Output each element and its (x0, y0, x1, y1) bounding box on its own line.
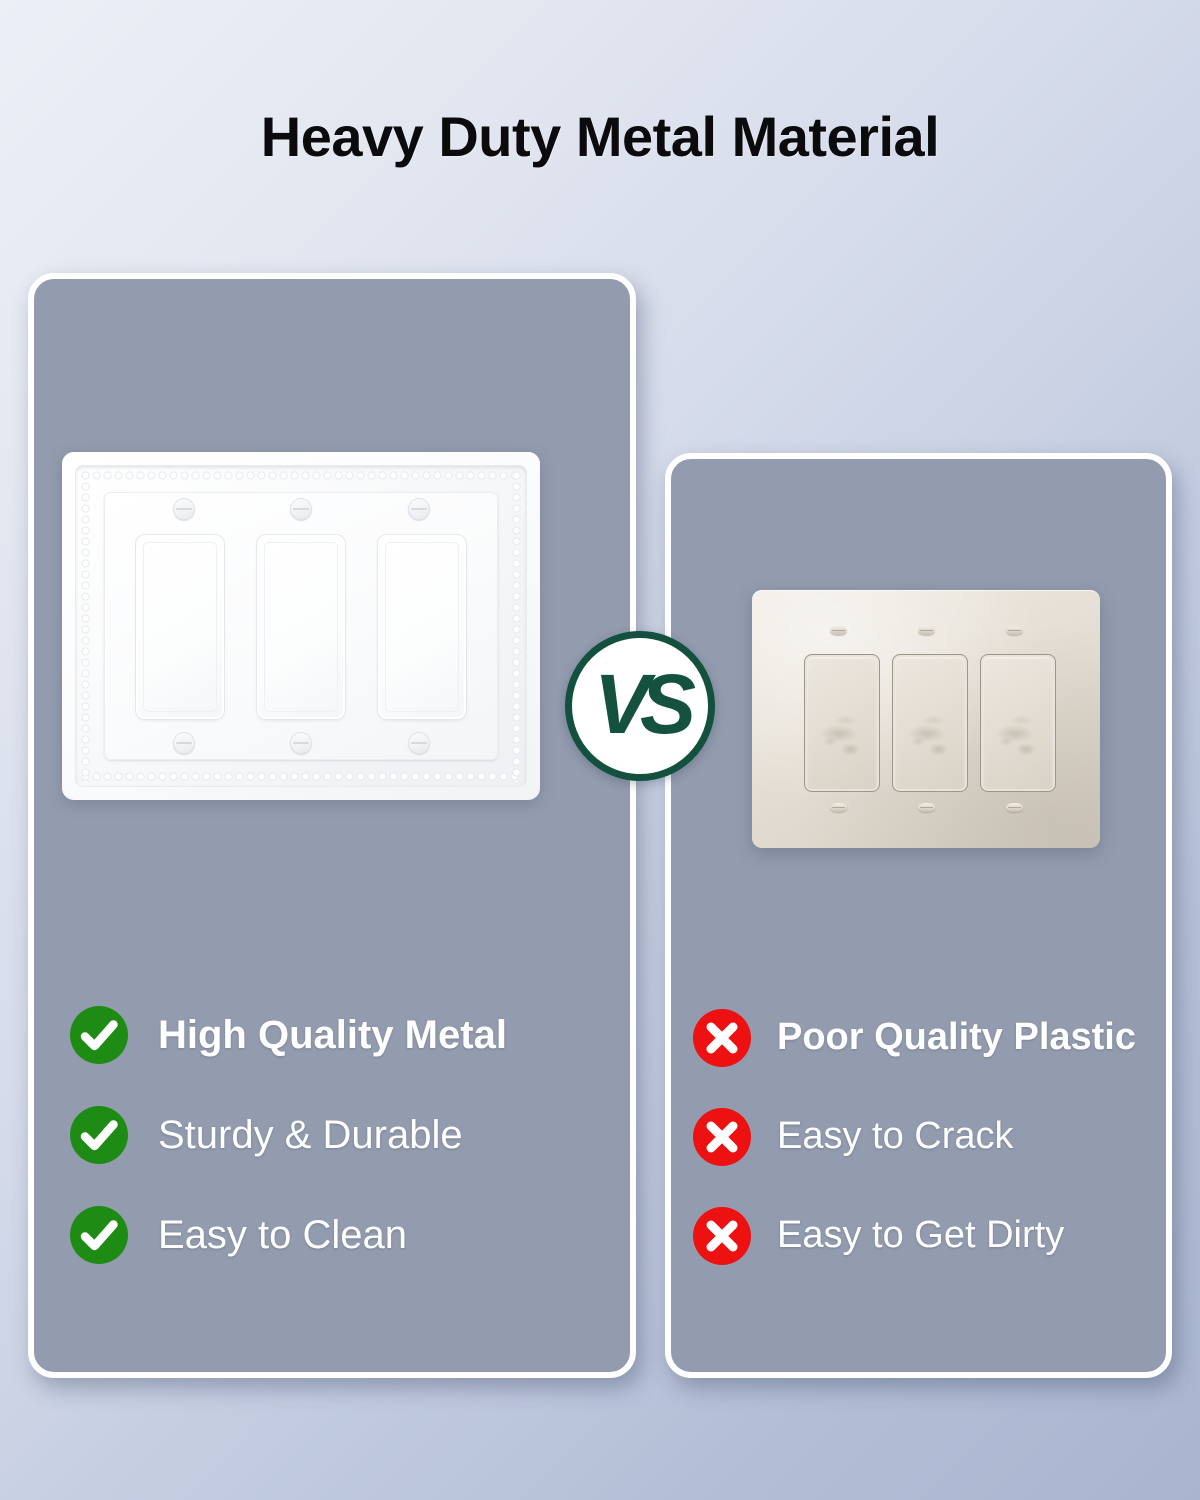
vs-badge: VS (565, 631, 715, 781)
screw-icon (290, 498, 312, 520)
dirt-smudge-icon (807, 657, 877, 789)
screw-icon (290, 732, 312, 754)
screw-icon (918, 803, 935, 812)
bead-row-top-icon (80, 470, 522, 481)
rocker-switch-3[interactable] (983, 657, 1053, 789)
list-item-label: Easy to Clean (158, 1214, 407, 1256)
dirt-smudge-icon (895, 657, 965, 789)
white-metal-wall-plate-image (62, 452, 540, 800)
list-item-label: Sturdy & Durable (158, 1114, 463, 1156)
page-title: Heavy Duty Metal Material (0, 104, 1200, 169)
list-item: Easy to Clean (70, 1185, 610, 1285)
vs-badge-label: VS (594, 662, 686, 746)
list-item-label: Easy to Get Dirty (777, 1216, 1064, 1256)
screw-icon (1006, 803, 1023, 812)
list-item: Poor Quality Plastic (693, 988, 1153, 1087)
rocker-switch-2[interactable] (895, 657, 965, 789)
list-item-label: Easy to Crack (777, 1117, 1014, 1157)
screw-icon (1006, 626, 1023, 635)
list-item: Easy to Get Dirty (693, 1186, 1153, 1285)
feature-list-pros: High Quality Metal Sturdy & Durable Easy… (70, 985, 610, 1285)
list-item-label: High Quality Metal (158, 1014, 507, 1056)
bead-row-left-icon (80, 470, 91, 782)
check-icon (70, 1006, 128, 1064)
feature-list-cons: Poor Quality Plastic Easy to Crack Easy … (693, 988, 1153, 1285)
rocker-switch-3[interactable] (380, 537, 464, 717)
screw-icon (918, 626, 935, 635)
screw-icon (173, 732, 195, 754)
screw-icon (408, 498, 430, 520)
bead-row-right-icon (511, 470, 522, 782)
screw-icon (830, 803, 847, 812)
rocker-switch-2[interactable] (259, 537, 343, 717)
screw-icon (408, 732, 430, 754)
dirt-smudge-icon (983, 657, 1053, 789)
beige-plastic-wall-plate-image (752, 590, 1100, 848)
cross-icon (693, 1009, 751, 1067)
list-item-label: Poor Quality Plastic (777, 1018, 1136, 1058)
list-item: Easy to Crack (693, 1087, 1153, 1186)
list-item: High Quality Metal (70, 985, 610, 1085)
cross-icon (693, 1207, 751, 1265)
rocker-switch-1[interactable] (807, 657, 877, 789)
screw-icon (173, 498, 195, 520)
cross-icon (693, 1108, 751, 1166)
bead-row-bottom-icon (80, 771, 522, 782)
check-icon (70, 1206, 128, 1264)
check-icon (70, 1106, 128, 1164)
rocker-switch-1[interactable] (138, 537, 222, 717)
screw-icon (830, 626, 847, 635)
list-item: Sturdy & Durable (70, 1085, 610, 1185)
